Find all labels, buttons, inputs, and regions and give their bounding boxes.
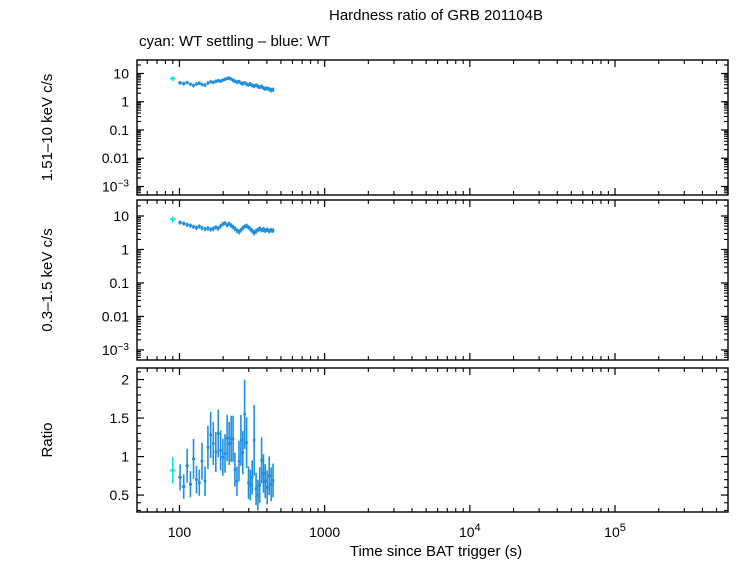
data-point — [234, 468, 237, 471]
series-wt-settling — [170, 457, 176, 483]
x-tick-label: 100 — [168, 524, 192, 540]
data-point — [268, 475, 271, 478]
data-point — [219, 225, 222, 228]
data-point — [255, 488, 258, 491]
data-points-middle — [170, 217, 274, 236]
data-point — [201, 460, 204, 463]
data-point — [172, 77, 175, 80]
y-axis-label-bottom: Ratio — [39, 422, 56, 457]
data-point — [186, 81, 189, 84]
y-tick-label: 1 — [121, 94, 129, 110]
data-point — [204, 228, 207, 231]
data-point — [186, 464, 189, 467]
data-point — [204, 84, 207, 87]
y-tick-label: 1 — [121, 449, 129, 465]
data-point — [209, 80, 212, 83]
data-point — [192, 84, 195, 87]
data-point — [228, 442, 231, 445]
y-tick-label: 10−3 — [102, 178, 129, 194]
data-point — [240, 439, 243, 442]
data-point — [272, 479, 275, 482]
data-point — [179, 221, 182, 224]
data-point — [207, 227, 210, 230]
data-point — [209, 228, 212, 231]
data-point — [204, 480, 207, 483]
data-point — [179, 476, 182, 479]
x-tick-label: 104 — [459, 522, 481, 540]
data-point — [198, 225, 201, 228]
data-point — [189, 483, 192, 486]
data-point — [241, 451, 244, 454]
y-tick-label: 1 — [121, 241, 129, 257]
data-point — [212, 81, 215, 84]
data-point — [215, 226, 218, 229]
data-points-top — [170, 76, 274, 92]
y-tick-label: 0.1 — [110, 275, 130, 291]
data-point — [272, 229, 275, 232]
data-point — [217, 79, 220, 82]
panel-middle: 1010.10.0110−30.3–1.5 keV c/s — [39, 200, 728, 360]
data-point — [195, 226, 198, 229]
data-point — [266, 486, 269, 489]
data-point — [192, 458, 195, 461]
x-tick-label: 1000 — [309, 524, 340, 540]
data-point — [172, 218, 175, 221]
data-points-bottom — [170, 380, 274, 511]
series-wt — [178, 76, 274, 92]
data-point — [189, 224, 192, 227]
data-point — [207, 82, 210, 85]
data-point — [257, 494, 260, 497]
data-point — [172, 469, 175, 472]
hardness-ratio-figure: Hardness ratio of GRB 201104B cyan: WT s… — [0, 0, 742, 566]
series-wt-settling — [170, 217, 176, 223]
y-axis-label-top: 1.51–10 keV c/s — [39, 74, 56, 182]
data-point — [212, 442, 215, 445]
data-point — [264, 480, 267, 483]
data-point — [201, 83, 204, 86]
data-point — [182, 222, 185, 225]
x-axis-label: Time since BAT trigger (s) — [350, 543, 522, 560]
data-point — [243, 413, 246, 416]
series-wt — [178, 380, 274, 511]
data-point — [245, 441, 248, 444]
figure-title: Hardness ratio of GRB 201104B — [329, 7, 543, 24]
data-point — [179, 81, 182, 84]
data-point — [236, 480, 239, 483]
data-point — [207, 446, 210, 449]
data-point — [182, 485, 185, 488]
data-point — [217, 432, 220, 435]
data-point — [217, 227, 220, 230]
data-point — [186, 223, 189, 226]
y-axis-label-middle: 0.3–1.5 keV c/s — [39, 228, 56, 331]
data-point — [251, 476, 254, 479]
figure-subtitle: cyan: WT settling – blue: WT — [139, 33, 330, 50]
y-tick-label: 10−3 — [102, 342, 129, 358]
data-point — [272, 88, 275, 91]
data-point — [258, 484, 261, 487]
data-point — [195, 83, 198, 86]
data-point — [232, 438, 235, 441]
plot-canvas: Hardness ratio of GRB 201104B cyan: WT s… — [0, 0, 742, 566]
data-point — [247, 481, 250, 484]
data-point — [189, 83, 192, 86]
data-point — [219, 80, 222, 83]
data-point — [253, 439, 256, 442]
data-point — [215, 80, 218, 83]
data-point — [226, 437, 229, 440]
data-point — [201, 227, 204, 230]
data-point — [209, 434, 212, 437]
y-tick-label: 10 — [113, 208, 129, 224]
data-point — [249, 484, 252, 487]
data-point — [215, 451, 218, 454]
data-point — [260, 459, 263, 462]
y-tick-label: 1.5 — [110, 410, 130, 426]
data-point — [182, 82, 185, 85]
data-point — [195, 478, 198, 481]
data-point — [192, 225, 195, 228]
x-tick-label: 105 — [604, 522, 626, 540]
series-wt-settling — [170, 76, 176, 81]
y-tick-label: 0.1 — [110, 122, 130, 138]
data-point — [270, 483, 273, 486]
data-point — [222, 456, 225, 459]
y-tick-label: 0.01 — [102, 150, 129, 166]
y-tick-label: 0.01 — [102, 308, 129, 324]
panel-group: 1010.10.0110−31.51–10 keV c/s1010.10.011… — [39, 60, 728, 540]
data-point — [224, 452, 227, 455]
data-point — [262, 472, 265, 475]
data-point — [198, 481, 201, 484]
y-tick-label: 0.5 — [110, 487, 130, 503]
data-point — [198, 82, 201, 85]
y-tick-label: 2 — [121, 372, 129, 388]
series-wt — [178, 221, 274, 236]
data-point — [212, 227, 215, 230]
data-point — [219, 449, 222, 452]
data-point — [238, 460, 241, 463]
panel-bottom: 21.510.51001000104105Ratio — [39, 368, 728, 540]
panel-top: 1010.10.0110−31.51–10 keV c/s — [39, 60, 728, 195]
y-tick-label: 10 — [113, 65, 129, 81]
